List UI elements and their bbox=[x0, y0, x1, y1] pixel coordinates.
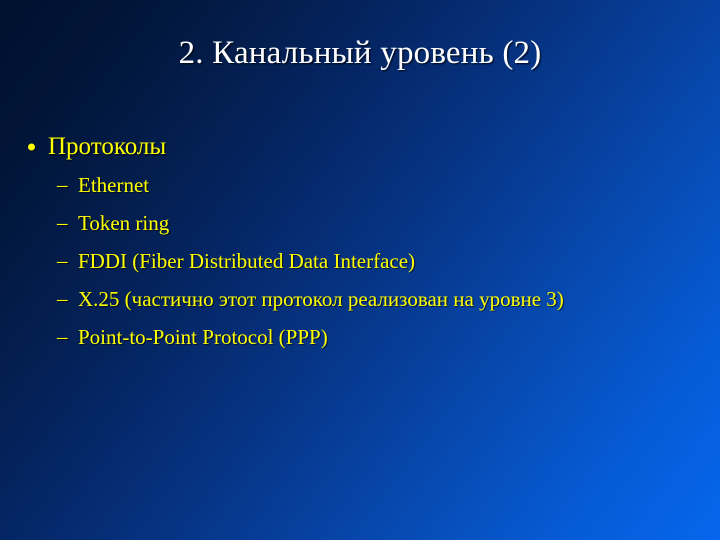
list-item: Протоколы bbox=[0, 128, 720, 166]
presentation-slide: 2. Канальный уровень (2) Протоколы – Eth… bbox=[0, 0, 720, 540]
round-bullet-icon bbox=[28, 144, 35, 151]
en-dash-bullet-icon: – bbox=[57, 213, 68, 234]
list-item: – Token ring bbox=[0, 204, 720, 242]
slide-title: 2. Канальный уровень (2) bbox=[179, 33, 542, 73]
en-dash-bullet-icon: – bbox=[57, 289, 68, 310]
en-dash-bullet-icon: – bbox=[57, 327, 68, 348]
en-dash-bullet-icon: – bbox=[57, 251, 68, 272]
list-item: – Point-to-Point Protocol (PPP) bbox=[0, 318, 720, 356]
en-dash-bullet-icon: – bbox=[57, 175, 68, 196]
list-item-label: Point-to-Point Protocol (PPP) bbox=[78, 324, 328, 350]
slide-body-placeholder: Протоколы – Ethernet – Token ring – FDDI… bbox=[0, 128, 720, 356]
list-item: – X.25 (частично этот протокол реализова… bbox=[0, 280, 720, 318]
list-item-label: Протоколы bbox=[48, 132, 166, 162]
list-item-label: Token ring bbox=[78, 210, 169, 236]
list-item-label: FDDI (Fiber Distributed Data Interface) bbox=[78, 248, 415, 274]
list-item: – Ethernet bbox=[0, 166, 720, 204]
list-item: – FDDI (Fiber Distributed Data Interface… bbox=[0, 242, 720, 280]
list-item-label: Ethernet bbox=[78, 172, 149, 198]
slide-title-placeholder: 2. Канальный уровень (2) bbox=[0, 33, 720, 73]
list-item-label: X.25 (частично этот протокол реализован … bbox=[78, 286, 564, 312]
